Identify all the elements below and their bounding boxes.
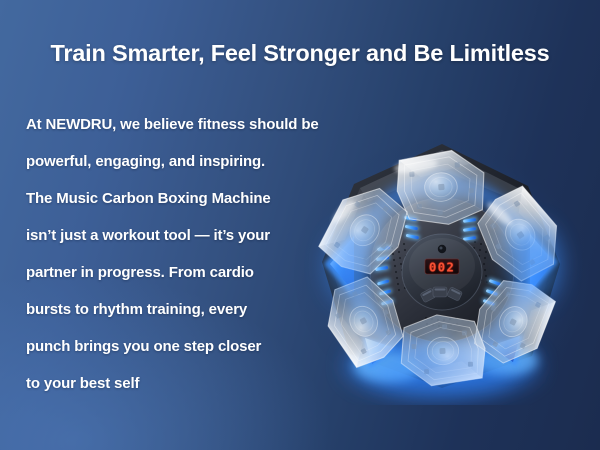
body-copy-line: At NEWDRU, we believe fitness should be	[26, 106, 326, 143]
body-copy-line: to your best self	[26, 365, 326, 402]
led-display: 002 002	[425, 259, 459, 275]
body-copy-line: powerful, engaging, and inspiring.	[26, 143, 326, 180]
promo-banner: Train Smarter, Feel Stronger and Be Limi…	[0, 0, 600, 450]
body-copy-line: bursts to rhythm training, every	[26, 291, 326, 328]
body-copy-line: isn’t just a workout tool — it’s your	[26, 217, 326, 254]
svg-text:002: 002	[429, 260, 455, 275]
control-console: 002 002	[402, 234, 482, 310]
body-copy: At NEWDRU, we believe fitness should be …	[26, 106, 326, 402]
body-copy-line: The Music Carbon Boxing Machine	[26, 180, 326, 217]
product-image-boxing-machine: 002 002	[292, 130, 592, 405]
body-copy-line: partner in progress. From cardio	[26, 254, 326, 291]
body-copy-line: punch brings you one step closer	[26, 328, 326, 365]
page-title: Train Smarter, Feel Stronger and Be Limi…	[0, 40, 600, 67]
